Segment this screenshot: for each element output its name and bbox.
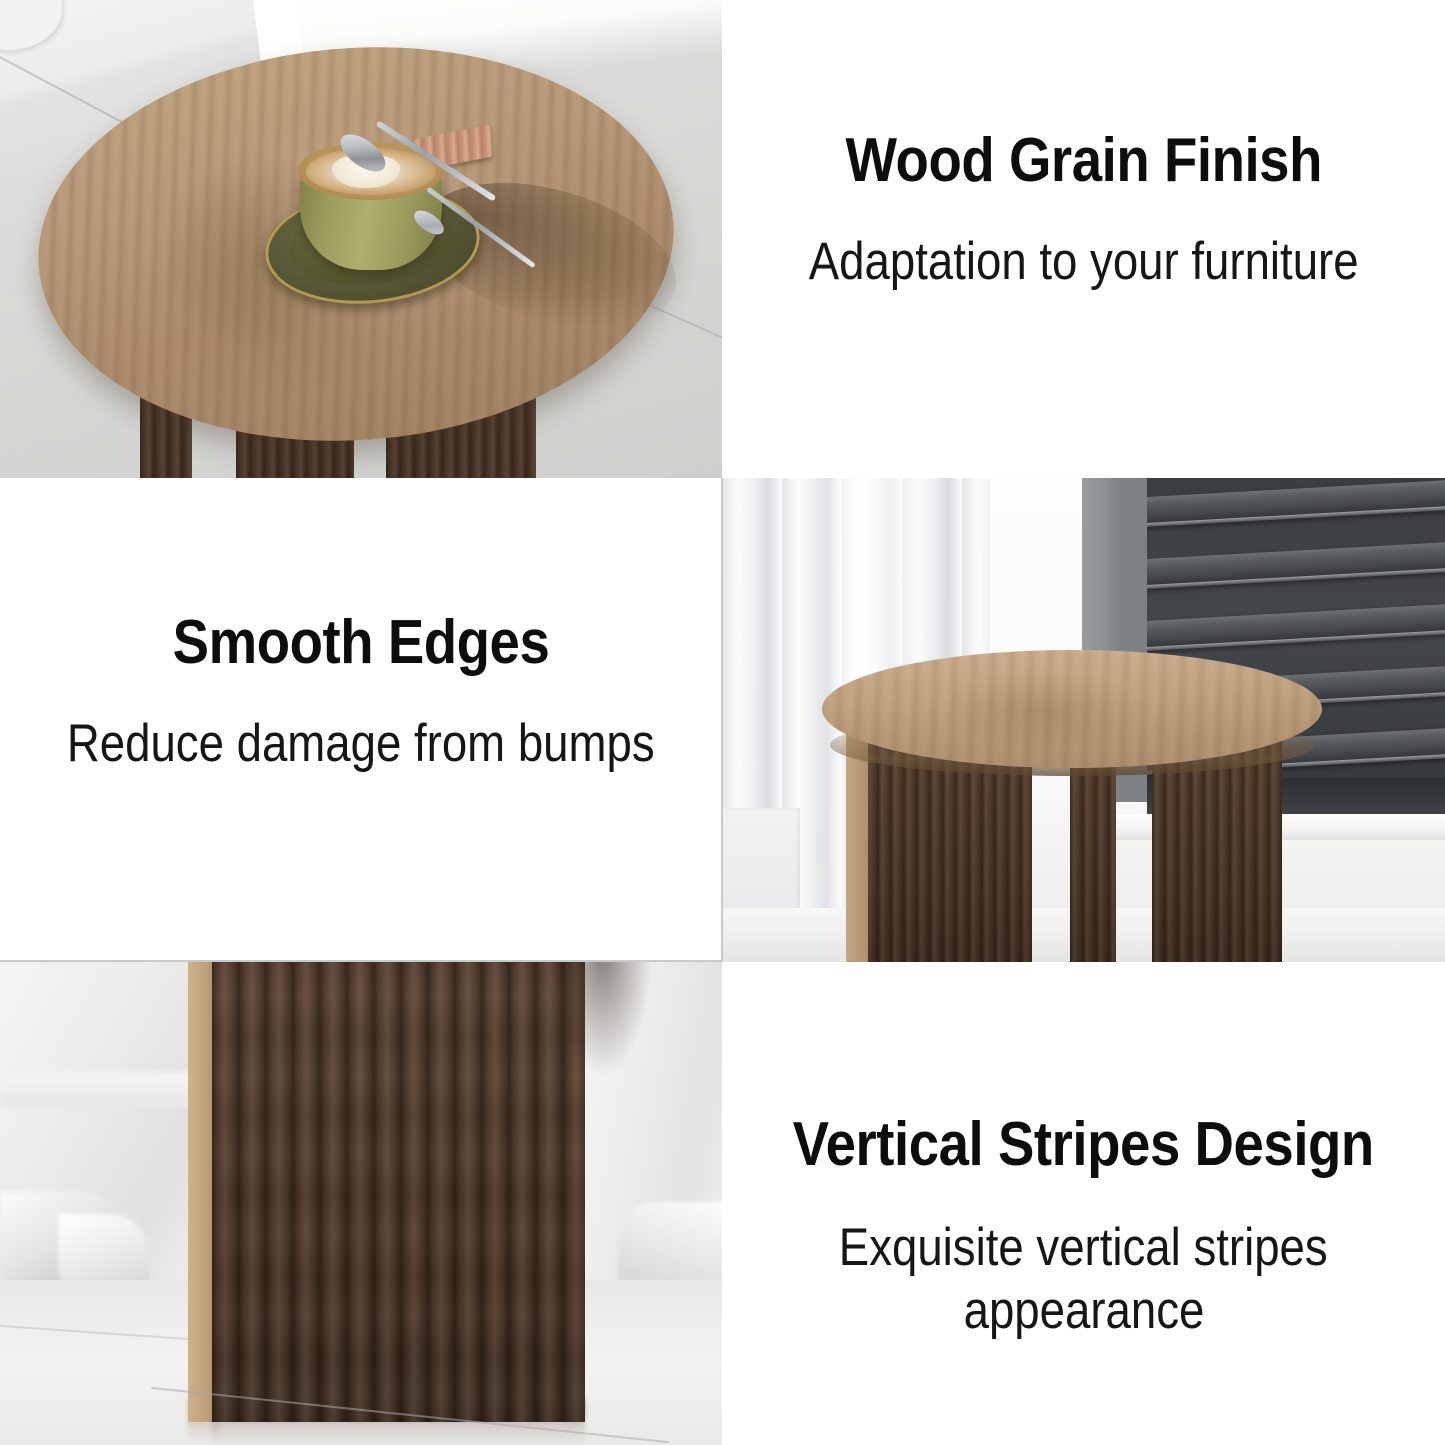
feature-headline: Vertical Stripes Design (793, 1112, 1374, 1177)
photo-tabletop-coffee (0, 0, 722, 478)
feature-block-vertical-stripes-design: Vertical Stripes Design Exquisite vertic… (722, 962, 1445, 1445)
photo-leg-closeup (0, 962, 723, 1445)
floor-object (0, 0, 62, 50)
wood-grain-knot (512, 962, 692, 1250)
leg-light-edge (846, 730, 868, 962)
feature-subline: Adaptation to your furniture (809, 231, 1359, 294)
divider-vertical-middle (721, 478, 723, 962)
feature-headline: Wood Grain Finish (845, 128, 1321, 193)
infographic-sheet: Wood Grain Finish Adaptation to your fur… (0, 0, 1445, 1445)
feature-headline: Smooth Edges (173, 610, 550, 675)
photo-table-window (722, 478, 1445, 963)
fluted-leg-face (212, 962, 585, 1422)
feature-subline-line2: appearance (963, 1280, 1204, 1343)
wall-base (0, 1072, 200, 1108)
feature-subline: Reduce damage from bumps (67, 713, 655, 776)
tabletop-surface (822, 650, 1322, 768)
divider-horizontal-bottom-left (0, 960, 722, 962)
feature-subline-line1: Exquisite vertical stripes (839, 1217, 1328, 1280)
